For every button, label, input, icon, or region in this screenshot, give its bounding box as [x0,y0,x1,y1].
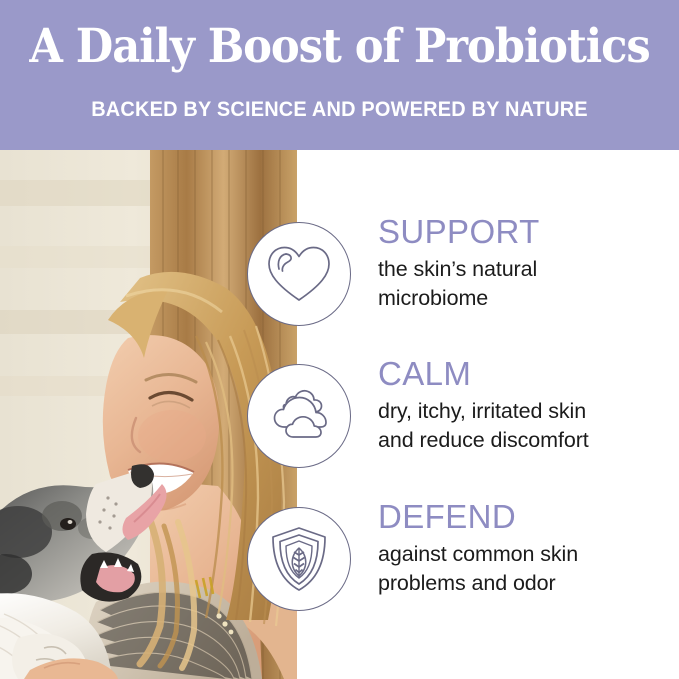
benefit-body: against common skin problems and odor [378,540,678,598]
benefit-heading: CALM [378,355,678,393]
cloud-icon [247,364,351,468]
product-infographic: A Daily Boost of Probiotics BACKED BY SC… [0,0,679,679]
benefit-body: dry, itchy, irritated skin and reduce di… [378,397,678,455]
benefit-text-calm: CALM dry, itchy, irritated skin and redu… [378,355,678,455]
header-banner: A Daily Boost of Probiotics BACKED BY SC… [0,0,679,150]
benefit-body: the skin’s natural microbiome [378,255,678,313]
page-title: A Daily Boost of Probiotics [27,17,652,77]
benefit-text-defend: DEFEND against common skin problems and … [378,498,678,598]
shield-leaf-icon [247,507,351,611]
benefit-heading: DEFEND [378,498,678,536]
benefit-heading: SUPPORT [378,213,678,251]
benefit-text-support: SUPPORT the skin’s natural microbiome [378,213,678,313]
heart-icon [247,222,351,326]
page-subtitle: BACKED BY SCIENCE AND POWERED BY NATURE [17,96,662,124]
